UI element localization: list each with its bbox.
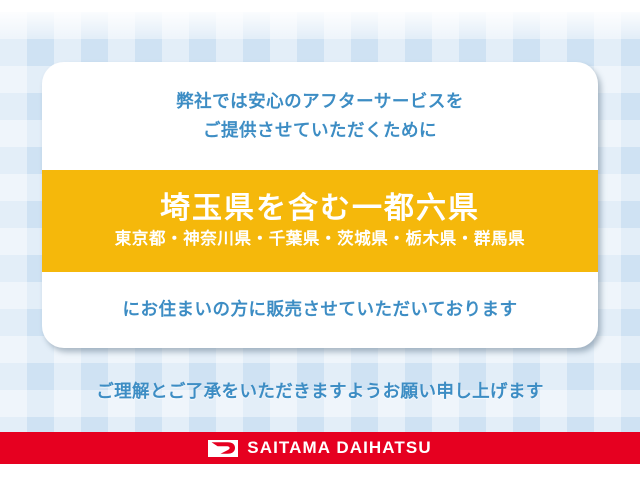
card-intro-block: 弊社では安心のアフターサービスを ご提供させていただくために: [42, 62, 598, 170]
intro-line-1: 弊社では安心のアフターサービスを: [176, 89, 464, 114]
brand-name: SAITAMA DAIHATSU: [247, 438, 431, 458]
closing-line: にお住まいの方に販売させていただいております: [123, 297, 518, 322]
daihatsu-d-emblem-icon: [208, 440, 238, 457]
request-caption: ご理解とご了承をいただきますようお願い申し上げます: [0, 378, 640, 403]
bottom-white-strip: [0, 464, 640, 480]
notice-banner-image: 弊社では安心のアフターサービスを ご提供させていただくために 埼玉県を含む一都六…: [0, 0, 640, 480]
notice-card: 弊社では安心のアフターサービスを ご提供させていただくために 埼玉県を含む一都六…: [42, 62, 598, 348]
band-heading: 埼玉県を含む一都六県: [160, 191, 480, 227]
top-white-strip: [0, 0, 640, 12]
intro-line-2: ご提供させていただくために: [203, 118, 437, 143]
brand-footer: SAITAMA DAIHATSU: [0, 432, 640, 464]
prefecture-list: 東京都・神奈川県・千葉県・茨城県・栃木県・群馬県: [115, 229, 525, 250]
highlight-band: 埼玉県を含む一都六県 東京都・神奈川県・千葉県・茨城県・栃木県・群馬県: [42, 170, 598, 272]
card-closing-block: にお住まいの方に販売させていただいております: [42, 272, 598, 348]
